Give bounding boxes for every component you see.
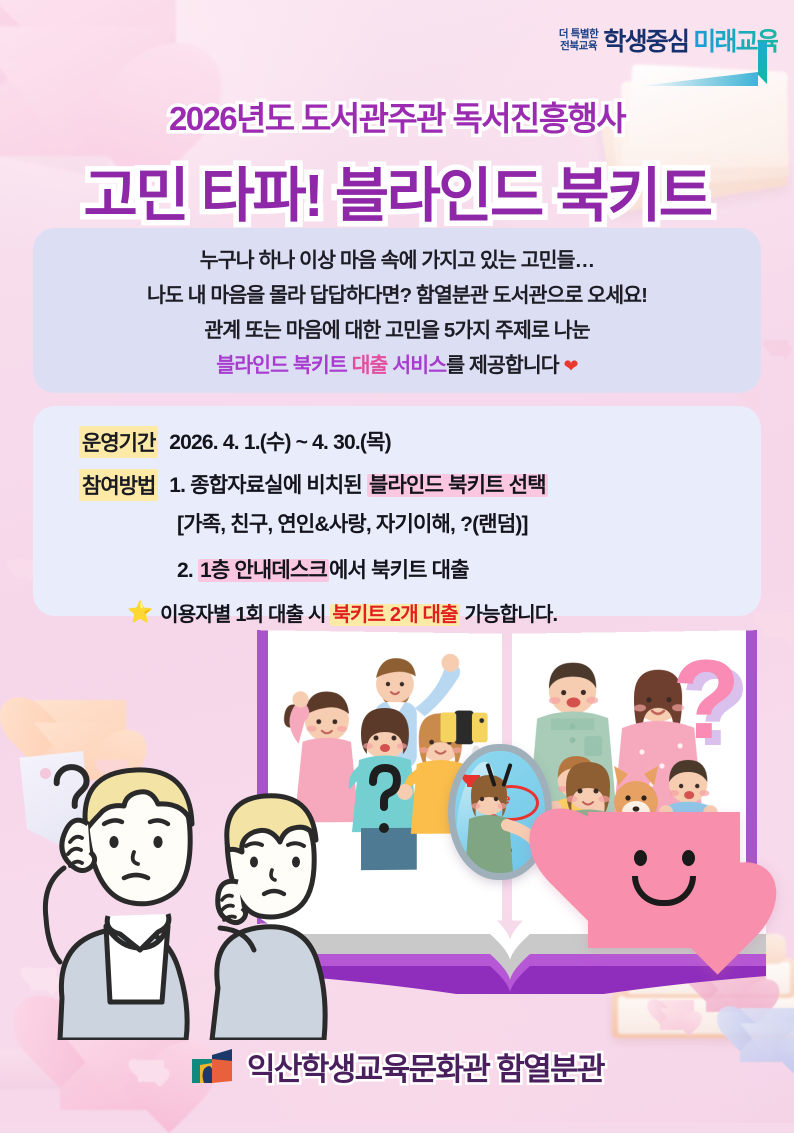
library-logo-icon (190, 1047, 234, 1087)
description-line-4: 블라인드 북키트 대출 서비스를 제공합니다 ❤ (216, 348, 577, 378)
question-mark-large: ? (672, 644, 740, 756)
period-value: 2026. 4. 1.(수) ~ 4. 30.(목) (169, 426, 391, 456)
description-line-2: 나도 내 마음을 몰라 답답하다면? 함열분관 도서관으로 오세요! (147, 278, 647, 308)
smiley-heart-illustration (588, 812, 740, 948)
mirror-pen-icon (483, 761, 517, 795)
worried-woman (212, 796, 325, 1040)
method-label: 참여방법 (79, 469, 158, 501)
description-line-3: 관계 또는 마음에 대한 고민을 5가지 주제로 나눈 (204, 313, 589, 343)
logo-sweep-shape (640, 72, 758, 86)
method-step-2-suffix: 에서 북키트 대출 (329, 559, 469, 582)
method-step-1-prefix: 1. 종합자료실에 비치된 (169, 474, 367, 497)
description-line-4-tail: 를 제공합니다 (446, 354, 563, 377)
logo-subtitle-line2: 전북교육 (559, 40, 599, 53)
description-panel: 누구나 하나 이상 마음 속에 가지고 있는 고민들… 나도 내 마음을 몰라 … (33, 228, 761, 393)
heart-eye-right (682, 850, 695, 866)
heart-eye-left (634, 850, 647, 866)
footer: 익산학생교육문화관 함열분관 (0, 1044, 794, 1089)
logo-subtitle: 더 특별한 전북교육 (559, 28, 599, 53)
worried-man (45, 770, 192, 1040)
worried-people-illustration (6, 730, 336, 1040)
description-service-word: 서비스 (392, 354, 446, 377)
footer-organization: 익산학생교육문화관 함열분관 (247, 1044, 604, 1089)
event-title: 고민 타파! 블라인드 북키트 (84, 148, 711, 233)
decorative-heart-small-10 (744, 392, 760, 406)
jeonbuk-education-logo: 더 특별한 전북교육 학생중심 미래교육 (559, 22, 778, 58)
method-step-1: 1. 종합자료실에 비치된 블라인드 북키트 선택 (169, 469, 547, 499)
heart-icon: ❤ (564, 356, 578, 376)
description-loan-word: 대출 (352, 354, 393, 377)
description-service-name: 블라인드 북키트 (216, 354, 351, 377)
description-line-1: 누구나 하나 이상 마음 속에 가지고 있는 고민들… (200, 243, 594, 273)
method-step-2-highlight: 1층 안내데스크 (198, 559, 329, 582)
info-panel: 운영기간 2026. 4. 1.(수) ~ 4. 30.(목) 참여방법 1. … (33, 406, 761, 616)
period-row: 운영기간 2026. 4. 1.(수) ~ 4. 30.(목) (33, 426, 761, 458)
logo-subtitle-line1: 더 특별한 (559, 28, 599, 41)
decorative-heart-small-9 (770, 340, 788, 356)
logo-main-text: 학생중심 (603, 22, 688, 58)
event-subtitle: 2026년도 도서관주관 독서진흥행사 (169, 92, 625, 140)
method-row: 참여방법 1. 종합자료실에 비치된 블라인드 북키트 선택 (33, 469, 761, 501)
period-label: 운영기간 (79, 426, 158, 458)
logo-flag-shape (758, 42, 767, 84)
illustration-area: me (0, 610, 794, 1040)
poster-root: 더 특별한 전북교육 학생중심 미래교육 2026년도 도서관주관 독서진흥행사… (0, 0, 794, 1123)
method-step-2-prefix: 2. (177, 559, 198, 582)
method-themes-list: [가족, 친구, 연인&사랑, 자기이해, ?(랜덤)] (177, 508, 761, 538)
title-block: 2026년도 도서관주관 독서진흥행사 고민 타파! 블라인드 북키트 (0, 92, 794, 233)
method-step-2: 2. 1층 안내데스크에서 북키트 대출 (177, 554, 761, 584)
method-step-1-highlight: 블라인드 북키트 선택 (367, 474, 548, 497)
decorative-heart-small-8 (14, 560, 34, 577)
